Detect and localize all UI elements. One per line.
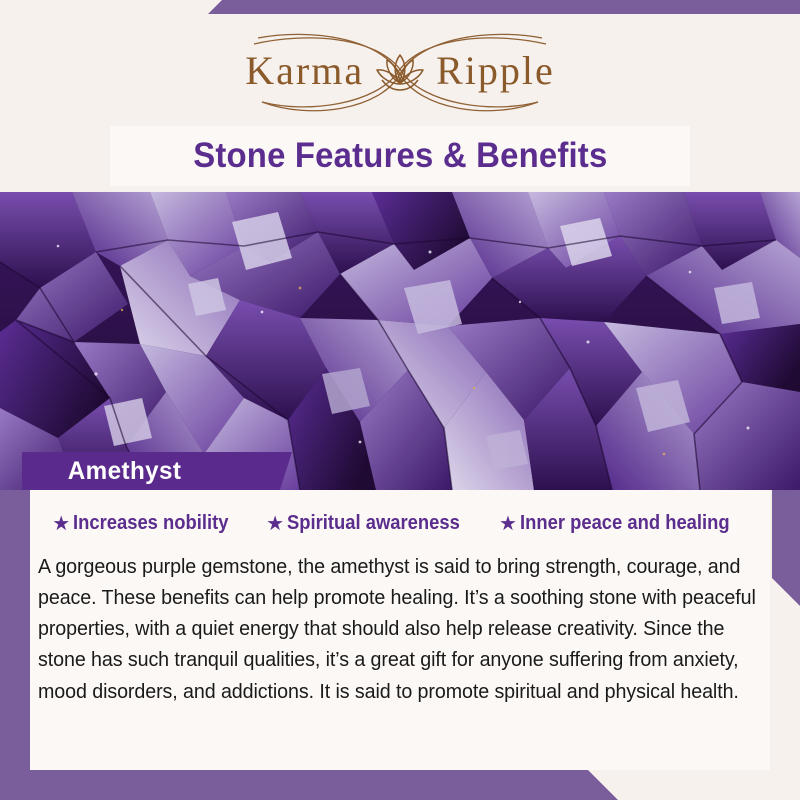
brand-header: Karma Ripple xyxy=(0,14,800,126)
frame-bottom-band xyxy=(0,770,800,800)
star-icon: ★ xyxy=(499,514,517,534)
benefit-item-1: ★ Increases nobility xyxy=(52,512,242,535)
star-icon: ★ xyxy=(266,514,284,534)
content-panel: ★ Increases nobility ★ Spiritual awarene… xyxy=(30,490,770,770)
logo-word-karma: Karma xyxy=(245,47,364,94)
benefit-item-2: ★ Spiritual awareness xyxy=(266,512,475,535)
benefits-list: ★ Increases nobility ★ Spiritual awarene… xyxy=(30,490,770,535)
stone-name-banner: Amethyst xyxy=(22,452,292,490)
benefit-label-1: Increases nobility xyxy=(73,512,228,535)
amethyst-crystal-art xyxy=(0,192,800,490)
lotus-icon xyxy=(370,47,430,93)
benefit-label-2: Spiritual awareness xyxy=(287,512,460,535)
logo-wordmark: Karma Ripple xyxy=(245,47,555,94)
title-strip: Stone Features & Benefits xyxy=(0,126,800,192)
brand-logo: Karma Ripple xyxy=(190,24,610,116)
benefit-item-3: ★ Inner peace and healing xyxy=(499,512,748,535)
page-title: Stone Features & Benefits xyxy=(193,136,607,176)
frame-top-band xyxy=(0,0,800,14)
title-panel: Stone Features & Benefits xyxy=(110,126,690,186)
logo-word-ripple: Ripple xyxy=(436,47,555,94)
stone-name-label: Amethyst xyxy=(68,457,182,486)
star-icon: ★ xyxy=(52,514,70,534)
stone-description: A gorgeous purple gemstone, the amethyst… xyxy=(38,551,777,707)
frame-left-band xyxy=(0,488,30,800)
infographic-card: Karma Ripple xyxy=(0,0,800,800)
amethyst-hero-image xyxy=(0,192,800,490)
benefit-label-3: Inner peace and healing xyxy=(520,512,730,535)
